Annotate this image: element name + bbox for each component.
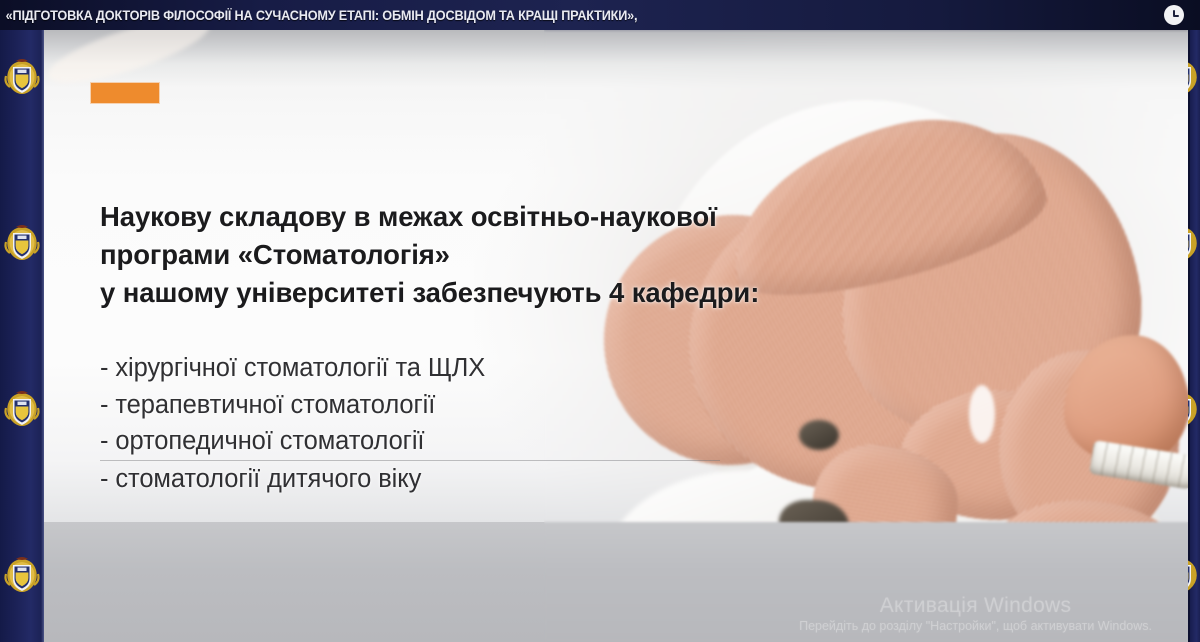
university-crest-icon [1188, 56, 1200, 98]
university-crest-icon [1188, 388, 1200, 430]
presentation-screen: «ПІДГОТОВКА ДОКТОРІВ ФІЛОСОФІЇ НА СУЧАСН… [0, 0, 1200, 642]
heading-line-3: у нашому університеті забезпечують 4 каф… [100, 274, 800, 312]
list-item: - ортопедичної стоматології [100, 423, 720, 461]
university-crest-icon [2, 388, 42, 430]
university-crest-icon [2, 554, 42, 596]
list-item: - стоматології дитячого віку [100, 461, 720, 498]
clock-icon[interactable] [1164, 5, 1184, 25]
slide-heading: Наукову складову в межах освітньо-науков… [100, 198, 800, 312]
orbital-opening [969, 385, 995, 443]
accent-bar [91, 83, 159, 103]
right-logo-rail [1188, 30, 1200, 642]
page-title: «ПІДГОТОВКА ДОКТОРІВ ФІЛОСОФІЇ НА СУЧАСН… [0, 8, 637, 23]
list-item: - хірургічної стоматології та ЩЛХ [100, 350, 720, 387]
university-crest-icon [1188, 554, 1200, 596]
university-crest-icon [2, 56, 42, 98]
university-crest-icon [2, 222, 42, 264]
heading-line-1: Наукову складову в межах освітньо-науков… [100, 198, 800, 236]
orbit-cavity [799, 420, 839, 450]
heading-line-2: програми «Стоматологія» [100, 236, 800, 274]
slide-canvas: Наукову складову в межах освітньо-науков… [44, 30, 1188, 642]
list-item: - терапевтичної стоматології [100, 387, 720, 424]
anatomical-head-model-photo [44, 30, 1188, 642]
left-logo-rail [0, 30, 44, 642]
desk-surface [44, 522, 1188, 642]
slide-bullet-list: - хірургічної стоматології та ЩЛХ - тера… [100, 350, 720, 497]
university-crest-icon [1188, 222, 1200, 264]
title-bar: «ПІДГОТОВКА ДОКТОРІВ ФІЛОСОФІЇ НА СУЧАСН… [0, 0, 1200, 30]
